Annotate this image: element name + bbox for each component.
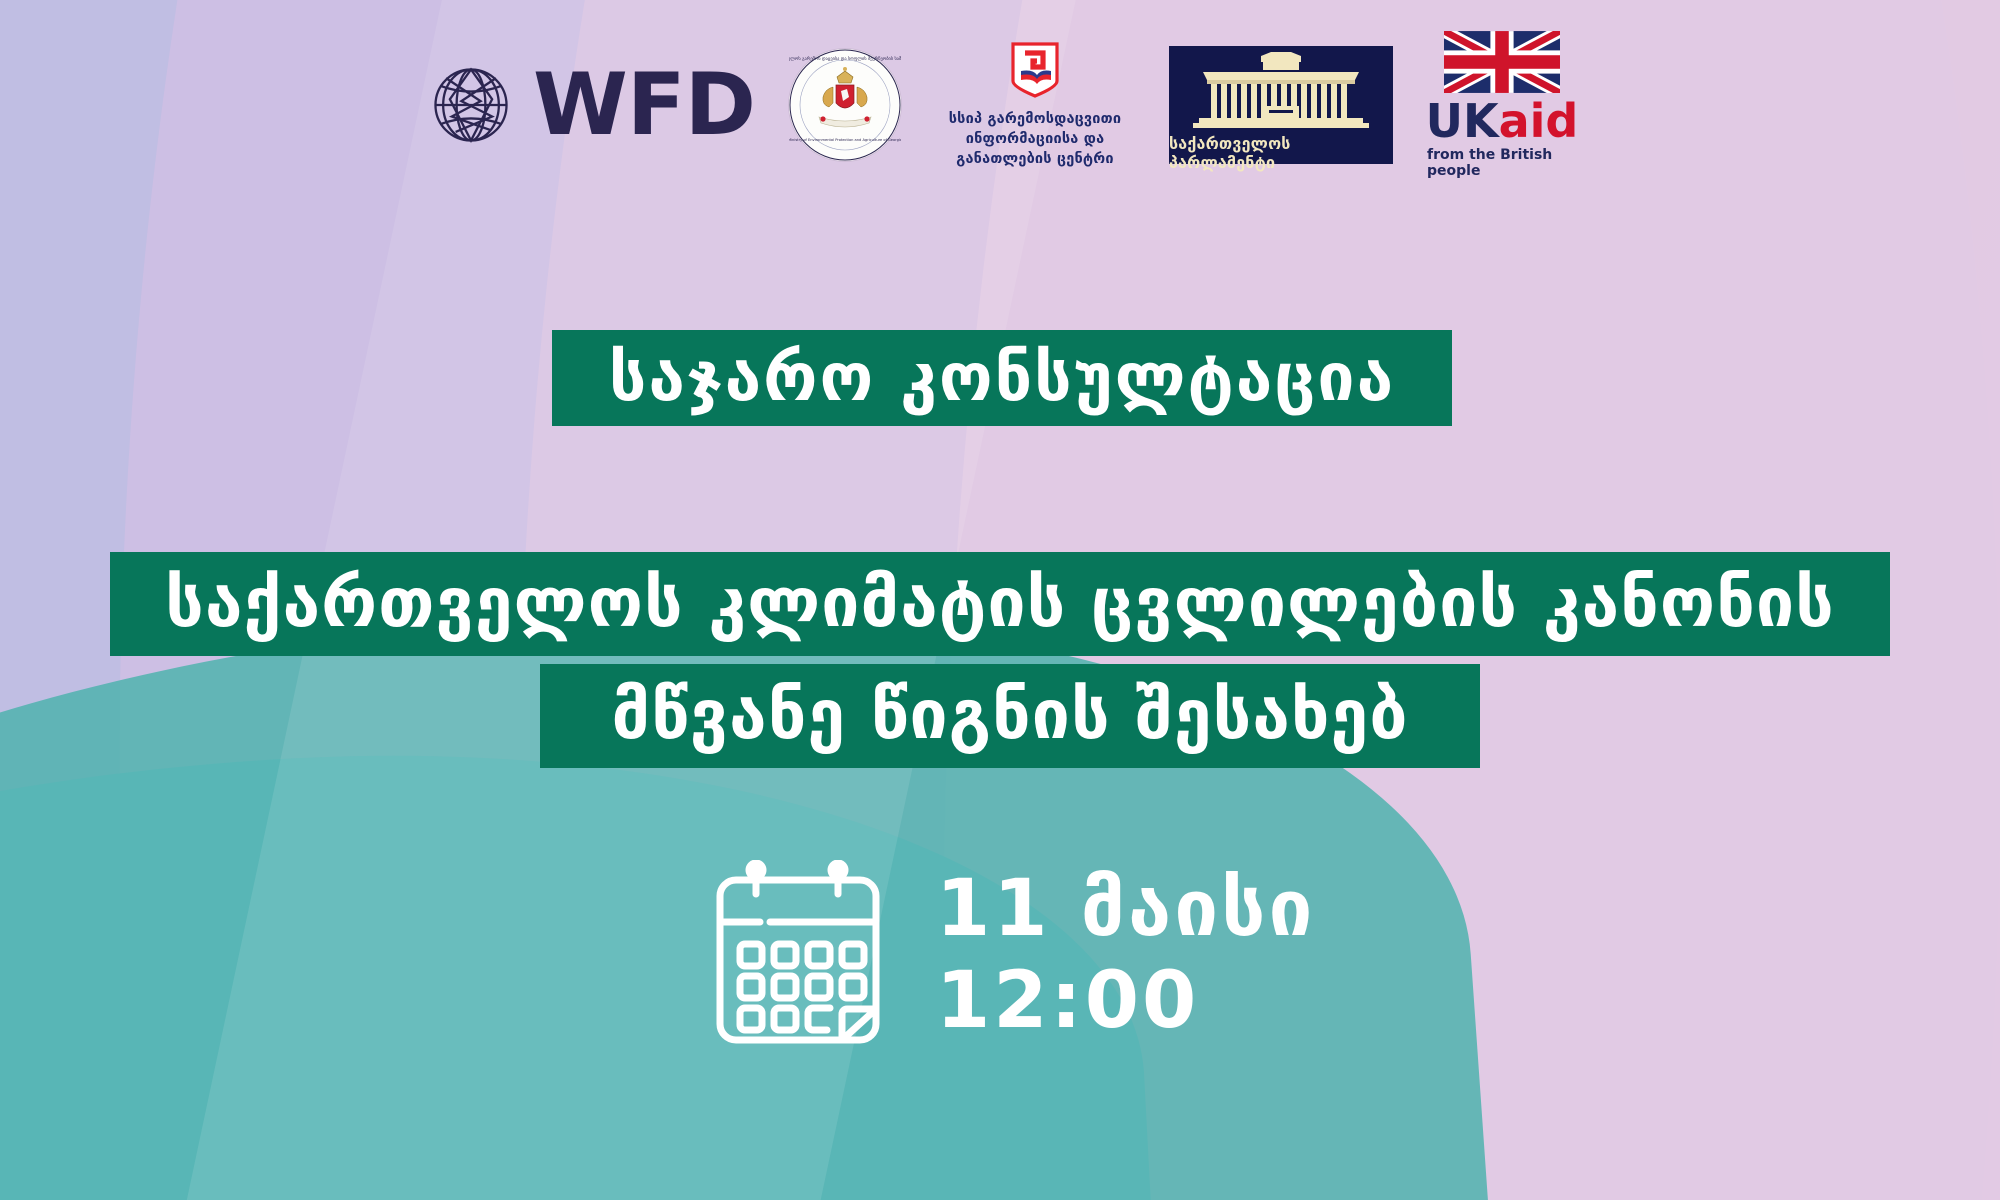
parliament-label: საქართველოს პარლამენტი: [1169, 134, 1393, 172]
logo-bar: WFD საქართველოს გა: [0, 0, 2000, 210]
title-banner-line-1: საქართველოს კლიმატის ცვლილების კანონის: [110, 552, 1890, 656]
parliament-building-icon: [1183, 52, 1379, 132]
open-book-shield-icon: [1009, 41, 1061, 103]
logo-parliament: საქართველოს პარლამენტი: [1169, 46, 1393, 164]
poster-canvas: WFD საქართველოს გა: [0, 0, 2000, 1200]
ukaid-uk: UK: [1426, 94, 1499, 148]
globe-icon: [423, 57, 519, 153]
ukaid-wordmark: UKaid: [1426, 97, 1579, 145]
kicker-banner: საჯარო კონსულტაცია: [552, 330, 1452, 426]
ukaid-subtitle: from the British people: [1427, 147, 1577, 179]
date-text: 11 მაისი 12:00: [936, 863, 1315, 1047]
logo-ukaid: UKaid from the British people: [1427, 31, 1577, 178]
union-jack-flag-icon: [1444, 31, 1560, 93]
eic-line-3: განათლების ცენტრი: [949, 149, 1122, 169]
date-block: 11 მაისი 12:00: [710, 860, 1315, 1050]
seal-ring-text: საქართველოს გარემოს დაცვისა და სოფლის მე…: [789, 55, 901, 62]
seal-bottom-text: Ministry of Environmental Protection and…: [789, 138, 901, 142]
eic-label: სსიპ გარემოსდაცვითი ინფორმაციისა და განა…: [949, 109, 1122, 169]
ukaid-aid: aid: [1499, 94, 1579, 148]
eic-line-2: ინფორმაციისა და: [949, 129, 1122, 149]
wfd-wordmark: WFD: [533, 62, 755, 148]
eic-line-1: სსიპ გარემოსდაცვითი: [949, 109, 1122, 129]
logo-eic: სსიპ გარემოსდაცვითი ინფორმაციისა და განა…: [935, 41, 1135, 169]
calendar-icon: [710, 860, 890, 1050]
date-day: 11 მაისი: [936, 863, 1315, 955]
title-banner-line-2: მწვანე წიგნის შესახებ: [540, 664, 1480, 768]
logo-ministry: საქართველოს გარემოს დაცვისა და სოფლის მე…: [789, 49, 901, 161]
date-time: 12:00: [936, 955, 1315, 1047]
georgia-coat-of-arms-icon: საქართველოს გარემოს დაცვისა და სოფლის მე…: [789, 49, 901, 161]
logo-wfd: WFD: [423, 57, 755, 153]
